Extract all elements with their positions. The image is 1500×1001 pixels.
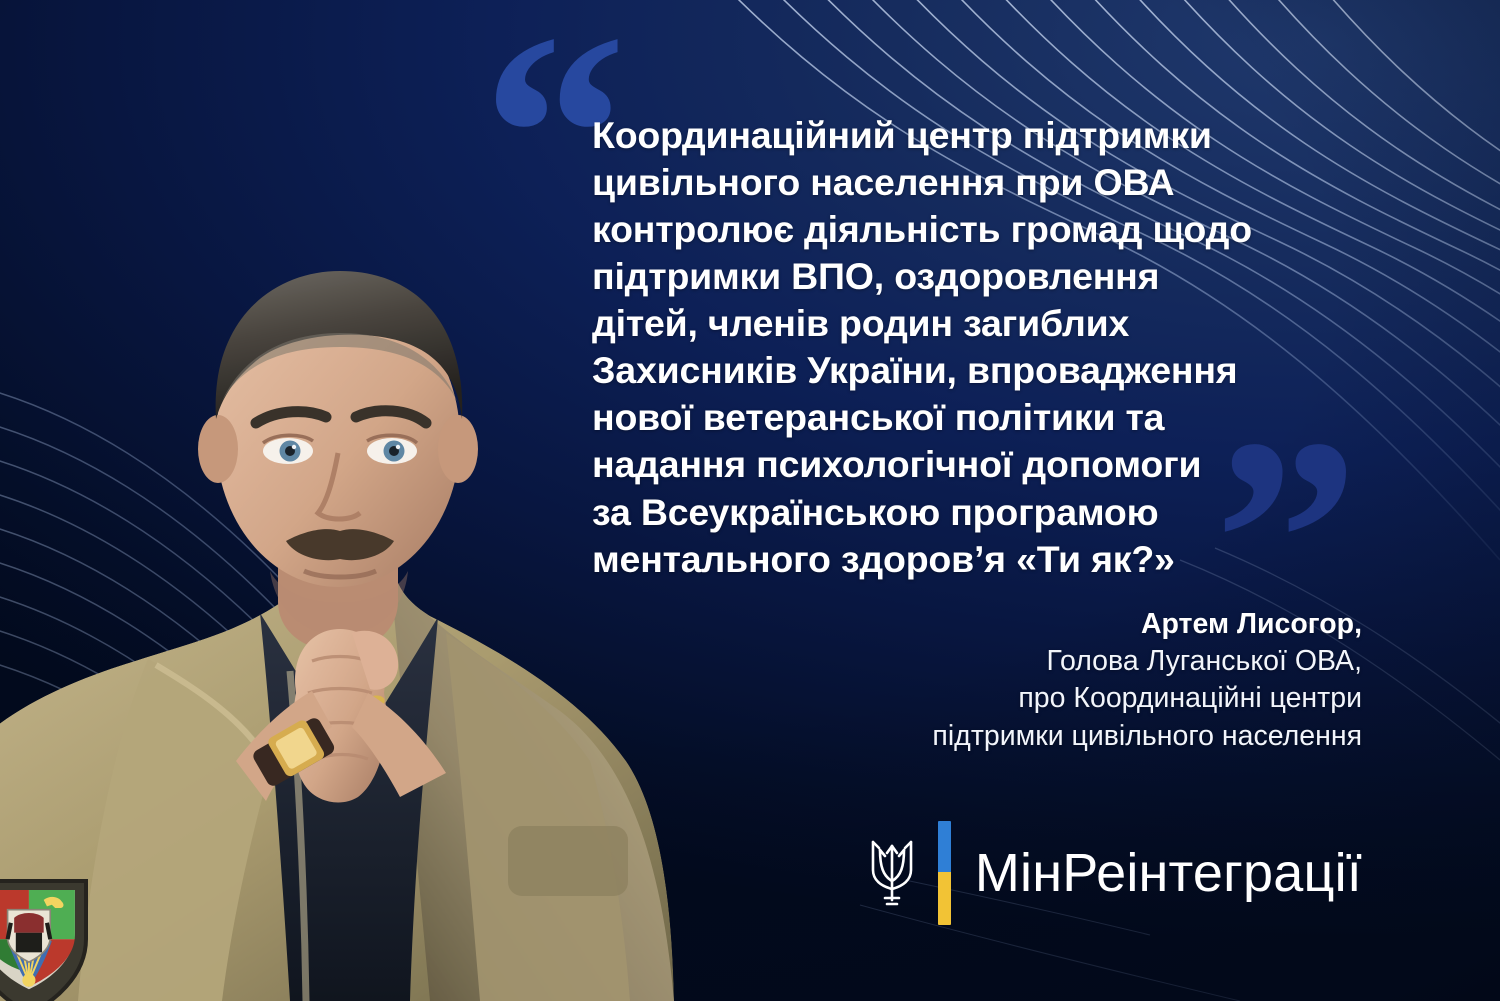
ministry-logo: МінРеінтеграції xyxy=(865,821,1362,925)
attribution-block: Артем Лисогор, Голова Луганської ОВА, пр… xyxy=(642,606,1362,755)
ministry-logo-text: МінРеінтеграції xyxy=(975,842,1362,904)
quote-line: Координаційний центр підтримки xyxy=(592,112,1382,159)
quote-line: цивільного населення при ОВА xyxy=(592,159,1382,206)
quote-line: ментального здоров’я «Ти як?» xyxy=(592,536,1382,583)
quote-line: контролює діяльність громад щодо xyxy=(592,206,1382,253)
quote-line: підтримки ВПО, оздоровлення xyxy=(592,253,1382,300)
quote-text: Координаційний центр підтримки цивільног… xyxy=(592,112,1382,583)
portrait-photo xyxy=(0,241,680,1001)
quote-line: Захисників України, впровадження xyxy=(592,347,1382,394)
speaker-name: Артем Лисогор, xyxy=(642,606,1362,643)
quote-card: “ ” Координаційний центр підтримки цивіл… xyxy=(0,0,1500,1001)
quote-line: надання психологічної допомоги xyxy=(592,441,1382,488)
quote-line: за Всеукраїнською програмою xyxy=(592,489,1382,536)
speaker-title-line: Голова Луганської ОВА, xyxy=(642,643,1362,680)
quote-line: нової ветеранської політики та xyxy=(592,394,1382,441)
speaker-topic-line: підтримки цивільного населення xyxy=(642,718,1362,755)
quote-line: дітей, членів родин загиблих xyxy=(592,300,1382,347)
speaker-topic-line: про Координаційні центри xyxy=(642,680,1362,717)
ukraine-flag-bar xyxy=(938,821,951,925)
ukraine-trident-icon xyxy=(865,836,919,910)
